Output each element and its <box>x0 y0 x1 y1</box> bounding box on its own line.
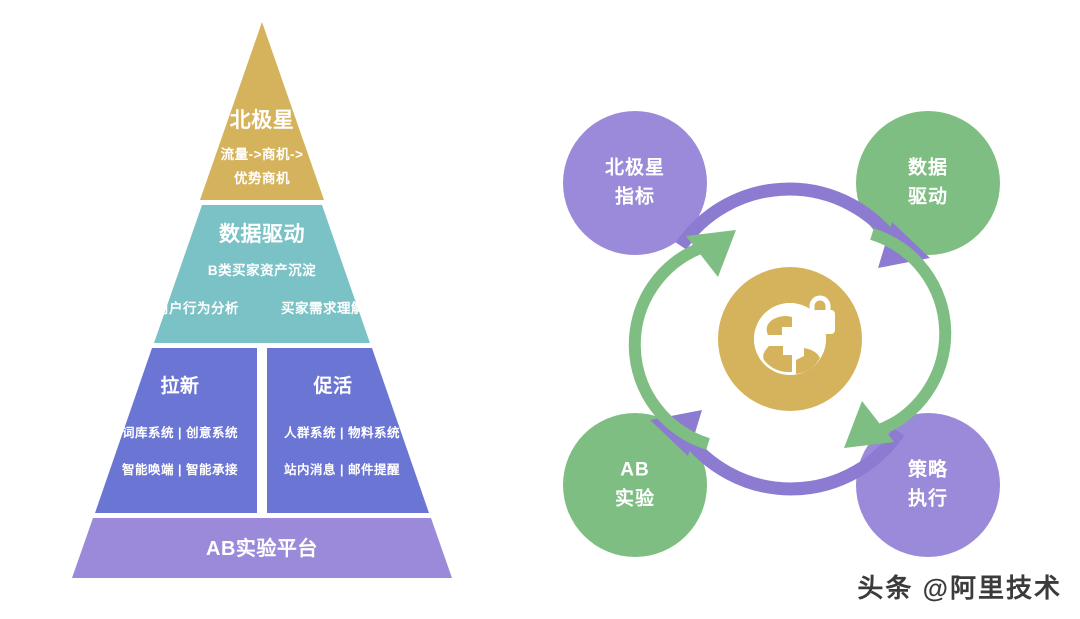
pyramid-tier-data-driven-pair-right: 买家需求理解 <box>258 300 388 317</box>
cycle-node-strategy-label: 策略 执行 <box>908 457 948 514</box>
cycle-node-north-star-line-2: 指标 <box>605 183 665 212</box>
pyramid-panel-cuhuo-row-2: 站内消息 | 邮件提醒 <box>262 462 422 478</box>
cycle-shapes <box>540 0 1080 619</box>
pyramid-diagram: 北极星 流量->商机-> 优势商机 数据驱动 B类买家资产沉淀 用户行为分析 买… <box>0 0 540 619</box>
pyramid-panel-lax-title: 拉新 <box>135 375 225 399</box>
cycle-node-ab-test-label: AB 实验 <box>615 457 655 514</box>
pyramid-tier-data-driven-pair-left: 用户行为分析 <box>132 300 262 317</box>
cycle-node-strategy-line-1: 策略 <box>908 457 948 486</box>
cycle-node-strategy-line-2: 执行 <box>908 485 948 514</box>
cycle-node-data-driven-line-1: 数据 <box>908 155 948 184</box>
pyramid-panel-lax-row-1: 词库系统 | 创意系统 <box>100 425 260 441</box>
cycle-node-ab-test-line-1: AB <box>615 457 655 486</box>
pyramid-tier-north-star-subline-1: 流量->商机-> <box>182 146 342 163</box>
pyramid-panel-lax-row-2: 智能唤端 | 智能承接 <box>100 462 260 478</box>
diagram-canvas: 北极星 流量->商机-> 优势商机 数据驱动 B类买家资产沉淀 用户行为分析 买… <box>0 0 1080 619</box>
cycle-node-data-driven-line-2: 驱动 <box>908 183 948 212</box>
pyramid-panel-cuhuo-row-1: 人群系统 | 物料系统 <box>262 425 422 441</box>
cycle-node-ab-test-line-2: 实验 <box>615 485 655 514</box>
watermark-text: 头条 @阿里技术 <box>857 568 1062 605</box>
cycle-node-north-star-label: 北极星 指标 <box>605 155 665 212</box>
cycle-node-data-driven-label: 数据 驱动 <box>908 155 948 212</box>
pyramid-tier-data-driven-subline-1: B类买家资产沉淀 <box>172 262 352 279</box>
pyramid-panel-cuhuo-title: 促活 <box>288 375 378 399</box>
cycle-node-north-star-line-1: 北极星 <box>605 155 665 184</box>
pyramid-tier-north-star-title: 北极星 <box>212 108 312 135</box>
pyramid-tier-data-driven-title: 数据驱动 <box>192 222 332 249</box>
pyramid-tier-ab-platform-title: AB实验平台 <box>172 537 352 563</box>
pyramid-tier-north-star-subline-2: 优势商机 <box>182 170 342 187</box>
cycle-diagram: 北极星 指标 数据 驱动 AB 实验 策略 执行 <box>540 0 1080 619</box>
